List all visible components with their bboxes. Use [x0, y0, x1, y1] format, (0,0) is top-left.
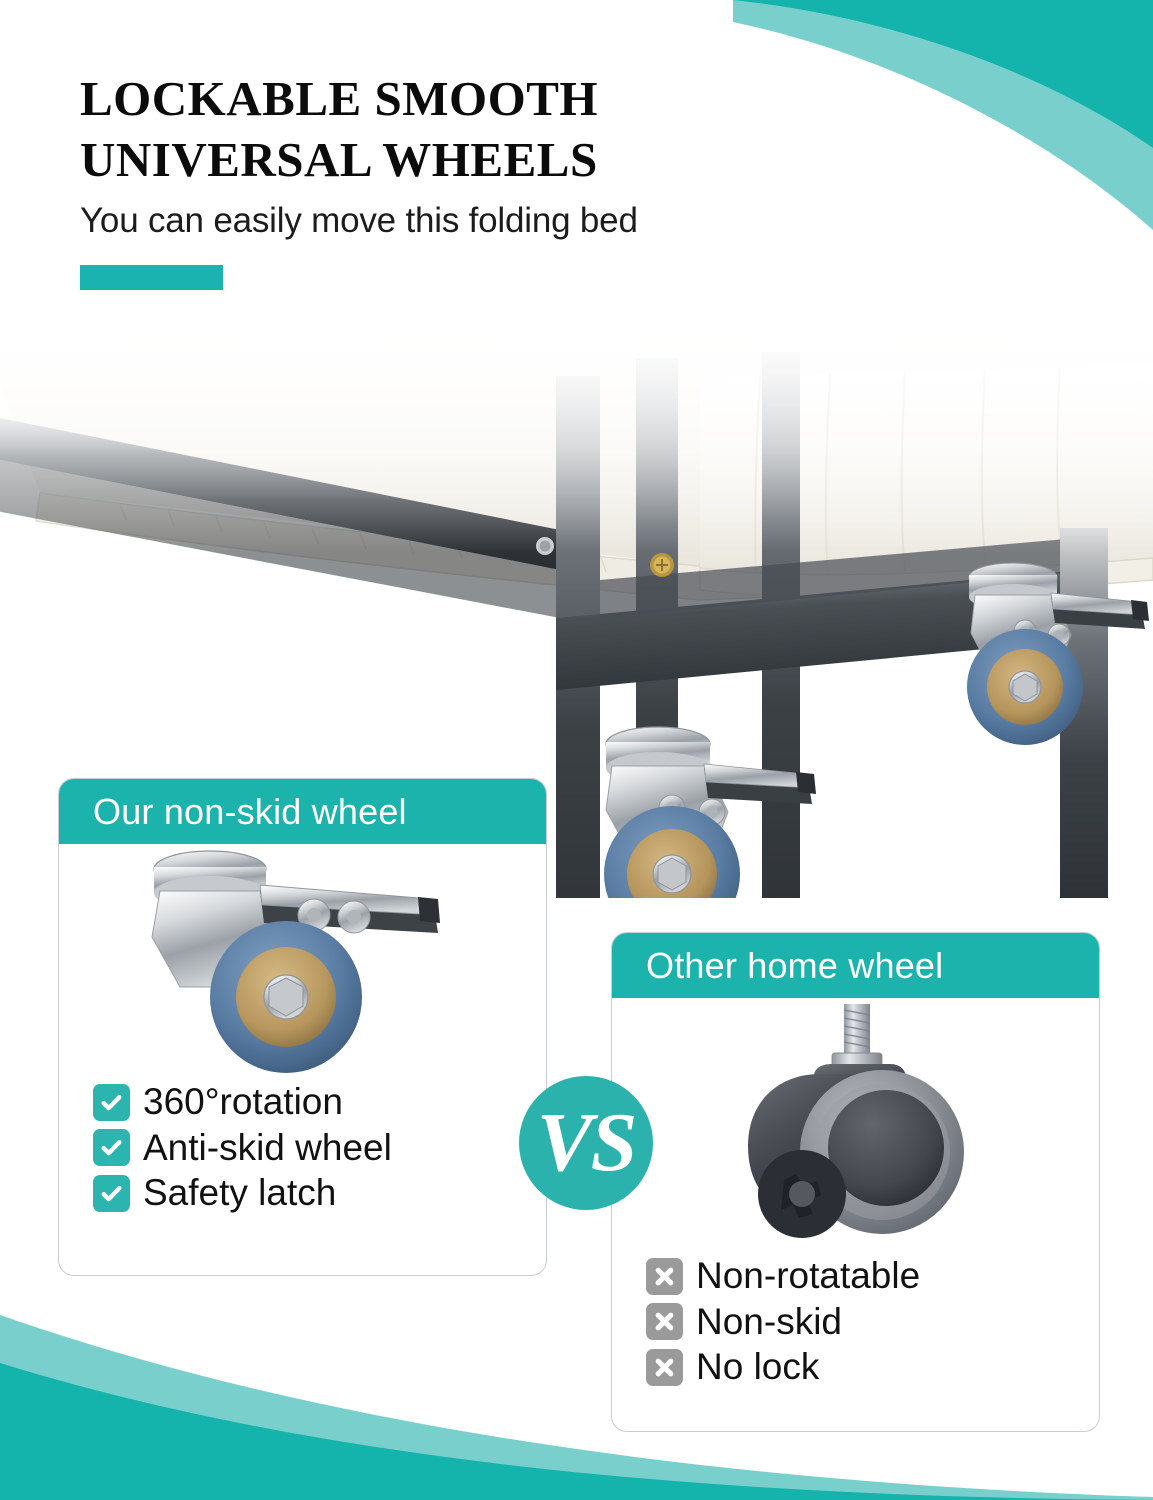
card-header-other: Other home wheel	[612, 933, 1099, 998]
feature-item: Non-rotatable	[646, 1255, 1099, 1298]
wheel-photo-other	[612, 998, 1099, 1253]
cross-icon	[646, 1349, 683, 1386]
card-title-ours: Our non-skid wheel	[93, 791, 407, 833]
feature-label: No lock	[696, 1346, 819, 1389]
vs-label: VS	[537, 1101, 636, 1185]
card-title-other: Other home wheel	[646, 945, 943, 987]
vs-badge: VS	[519, 1076, 653, 1210]
feature-item: Non-skid	[646, 1301, 1099, 1344]
feature-label: Non-rotatable	[696, 1255, 920, 1298]
accent-bar	[80, 265, 223, 290]
cross-icon	[646, 1303, 683, 1340]
feature-list-other: Non-rotatable Non-skid No lock	[612, 1253, 1099, 1389]
check-icon	[93, 1084, 130, 1121]
cross-icon	[646, 1258, 683, 1295]
comparison-card-ours: Our non-skid wheel	[58, 778, 547, 1276]
check-icon	[93, 1129, 130, 1166]
feature-list-ours: 360°rotation Anti-skid wheel Safety latc…	[59, 1079, 546, 1215]
feature-item: Safety latch	[93, 1172, 546, 1215]
comparison-card-other: Other home wheel	[611, 932, 1100, 1432]
feature-label: Safety latch	[143, 1172, 336, 1215]
feature-item: No lock	[646, 1346, 1099, 1389]
page-title: LOCKABLE SMOOTH UNIVERSAL WHEELS	[80, 68, 960, 191]
feature-label: Non-skid	[696, 1301, 842, 1344]
feature-label: 360°rotation	[143, 1081, 343, 1124]
check-icon	[93, 1175, 130, 1212]
feature-item: 360°rotation	[93, 1081, 546, 1124]
feature-item: Anti-skid wheel	[93, 1127, 546, 1170]
header-block: LOCKABLE SMOOTH UNIVERSAL WHEELS You can…	[80, 68, 960, 290]
feature-label: Anti-skid wheel	[143, 1127, 392, 1170]
card-header-ours: Our non-skid wheel	[59, 779, 546, 844]
page-subtitle: You can easily move this folding bed	[80, 201, 960, 241]
wheel-photo-ours	[59, 844, 546, 1079]
